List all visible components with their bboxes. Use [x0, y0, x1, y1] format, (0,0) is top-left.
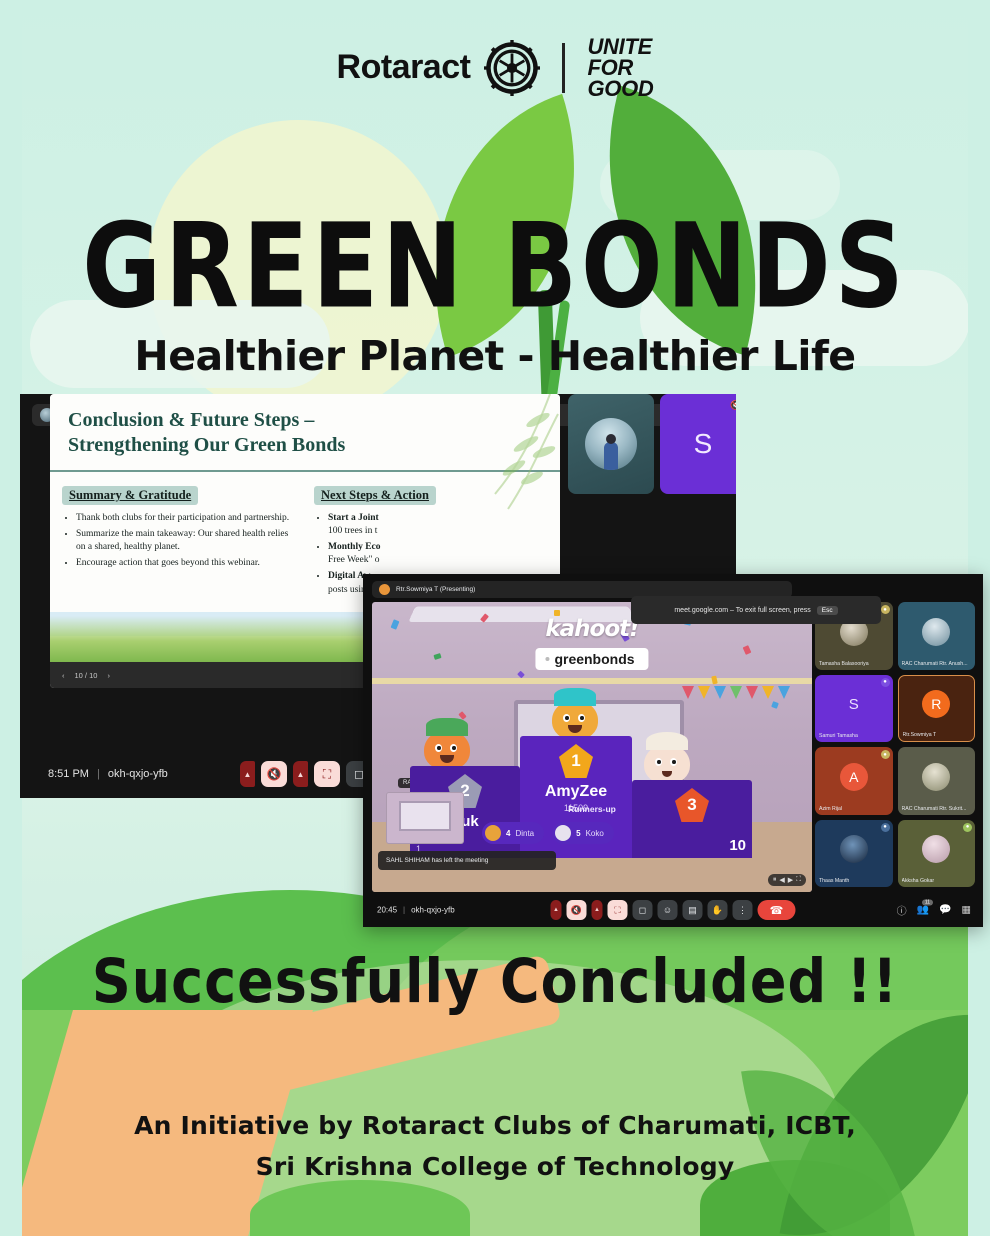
participant-tile[interactable]: RAC Charumati Rtr. Anush... [898, 602, 976, 670]
tagline-line-2: FOR [587, 57, 653, 78]
participant-tile[interactable]: ● Akksha Gokar [898, 820, 976, 888]
avatar-character [644, 732, 690, 784]
meeting-meta: 20:45 | okh-qxjo-yfb [377, 906, 455, 915]
leave-notification-text: SAHL SHIHAM has left the meeting [386, 857, 488, 864]
mic-status-icon: ● [881, 678, 890, 687]
slide-title-line-2: Strengthening Our Green Bonds [68, 433, 500, 458]
kahoot-nickname-pill: greenbonds [535, 648, 648, 670]
mic-status-icon: ● [963, 823, 972, 832]
list-item: Encourage action that goes beyond this w… [76, 557, 298, 570]
avatar [922, 835, 950, 863]
participant-tile[interactable]: RAC Charumati Rtr. Sukrit... [898, 747, 976, 815]
nickname-dot-icon [545, 657, 549, 661]
present-screen-button[interactable]: ◻ [633, 900, 653, 920]
participant-name: Samuri Tamasha [819, 733, 858, 739]
picture-in-picture-tile[interactable] [386, 792, 464, 844]
runners-up-row: Runners-up 4 Dinta 5 Koko [482, 818, 702, 848]
logo-divider [562, 43, 565, 93]
page-title: GREEN BONDS [0, 198, 990, 335]
participant-name: Azim Rijal [819, 806, 842, 812]
meeting-code: okh-qxjo-yfb [108, 768, 168, 780]
runner-name: Dinta [515, 829, 534, 838]
participant-tile[interactable]: S ● Samuri Tamasha [815, 675, 893, 743]
esc-key-badge: Esc [817, 606, 838, 615]
meet-bottom-bar: 20:45 | okh-qxjo-yfb ▲ 🔇 ▲ ⛶ ◻ ☺ ▤ ✋ ⋮ ☎… [363, 893, 983, 927]
list-item: Summarize the main takeaway: Our shared … [76, 528, 298, 554]
presenter-label: Rtr.Sowmiya T (Presenting) [396, 586, 475, 593]
avatar-character [424, 718, 470, 770]
participant-tile[interactable]: S 🔇 [660, 394, 736, 494]
mic-status-icon: ● [881, 823, 890, 832]
people-count-badge: 11 [922, 900, 933, 906]
slide-column-left: Summary & Gratitude Thank both clubs for… [62, 486, 298, 600]
fullscreen-icon[interactable]: ⛶ [796, 876, 801, 884]
slide-page-indicator: 10 / 10 [75, 671, 98, 680]
participant-tile[interactable] [568, 394, 654, 494]
list-item: Thank both clubs for their participation… [76, 512, 298, 525]
rotary-wheel-icon [484, 40, 540, 96]
google-meet-window-kahoot[interactable]: Rtr.Sowmiya T (Presenting) meet.google.c… [363, 574, 983, 927]
runner-avatar [485, 825, 501, 841]
next-icon[interactable]: ▶ [788, 876, 793, 884]
kahoot-results-stage: kahoot! greenbonds [372, 602, 812, 892]
avatar [840, 835, 868, 863]
prev-slide-icon[interactable]: ‹ [62, 671, 65, 680]
runner-avatar [555, 825, 571, 841]
footer-credits: An Initiative by Rotaract Clubs of Charu… [0, 1105, 990, 1188]
mic-options-caret-icon[interactable]: ▲ [551, 900, 562, 920]
bullet-rest: 100 trees in t [328, 526, 377, 536]
slide-title-line-1: Conclusion & Future Steps – [68, 408, 500, 433]
avatar-character [552, 688, 598, 740]
camera-options-caret-icon[interactable]: ▲ [592, 900, 603, 920]
pip-screen-content [399, 801, 451, 831]
slide-title: Conclusion & Future Steps – Strengthenin… [68, 408, 500, 458]
participant-name: RAC Charumati Rtr. Anush... [902, 661, 968, 667]
concluded-headline: Successfully Concluded !! [0, 946, 990, 1017]
bullet-rest: Free Week" o [328, 555, 379, 565]
fullscreen-toast: meet.google.com – To exit full screen, p… [631, 596, 881, 624]
avatar-head [606, 434, 616, 444]
participant-name: Thaas Manth [819, 878, 849, 884]
slide-left-bullets: Thank both clubs for their participation… [62, 512, 298, 570]
participant-name: Tamasha Balasooriya [819, 661, 869, 667]
avatar-initial: R [922, 690, 950, 718]
runners-up-label: Runners-up [482, 804, 702, 814]
meeting-details-icon[interactable]: ⓘ [897, 903, 907, 918]
chat-panel-icon[interactable]: 💬 [939, 905, 951, 916]
runner-up-chip: 5 Koko [552, 822, 614, 844]
runner-up-chip: 4 Dinta [482, 822, 544, 844]
list-item: Start a Joint100 trees in t [328, 512, 550, 538]
mic-off-icon: 🔇 [730, 400, 736, 410]
mic-off-button[interactable]: 🔇 [567, 900, 587, 920]
next-slide-icon[interactable]: › [107, 671, 110, 680]
meeting-time: 8:51 PM [48, 768, 89, 780]
meta-separator: | [403, 906, 405, 915]
runner-name: Koko [586, 829, 604, 838]
captions-button[interactable]: ▤ [683, 900, 703, 920]
confetti [743, 645, 752, 655]
meeting-meta: 8:51 PM | okh-qxjo-yfb [48, 768, 168, 780]
presenter-avatar [379, 584, 390, 595]
podium-name-1: AmyZee [545, 783, 607, 801]
avatar [585, 418, 637, 470]
mic-off-button[interactable]: 🔇 [261, 761, 287, 787]
mic-options-caret-icon[interactable]: ▲ [240, 761, 255, 787]
podium-score-3: 10 [729, 837, 746, 854]
stage-navigation[interactable]: ⏸ ◀ ▶ ⛶ [768, 874, 806, 886]
meeting-time: 20:45 [377, 906, 397, 915]
participant-name: Akksha Gokar [902, 878, 935, 884]
leave-notification-toast: SAHL SHIHAM has left the meeting [378, 851, 556, 870]
camera-options-caret-icon[interactable]: ▲ [293, 761, 308, 787]
avatar [922, 618, 950, 646]
avatar-initial: S [840, 690, 868, 718]
rotaract-logo: Rotaract [0, 36, 990, 99]
fullscreen-toast-text: meet.google.com – To exit full screen, p… [674, 607, 810, 614]
avatar [922, 763, 950, 791]
raise-hand-button[interactable]: ✋ [708, 900, 728, 920]
confetti [711, 676, 718, 685]
footer-line-1: An Initiative by Rotaract Clubs of Charu… [0, 1105, 990, 1146]
poster-border-left [0, 0, 22, 1236]
mic-status-icon: ● [881, 750, 890, 759]
pause-icon[interactable]: ⏸ [773, 876, 777, 884]
meet-controls[interactable]: ▲ 🔇 ▲ ⛶ ◻ ☺ ▤ ✋ ⋮ ☎ [551, 900, 796, 920]
kahoot-nickname: greenbonds [554, 651, 634, 667]
activities-panel-icon[interactable]: ▦ [962, 905, 971, 916]
participant-grid: ● Tamasha Balasooriya RAC Charumati Rtr.… [815, 602, 975, 892]
slide-right-heading: Next Steps & Action [314, 486, 436, 505]
participant-tile[interactable]: A ● Azim Rijal [815, 747, 893, 815]
page-subtitle: Healthier Planet - Healthier Life [0, 332, 990, 380]
bullet-bold: Monthly Eco [328, 542, 381, 552]
prev-icon[interactable]: ◀ [779, 876, 784, 884]
avatar-body [604, 442, 618, 470]
unite-for-good-tagline: UNITE FOR GOOD [587, 36, 653, 99]
tagline-line-1: UNITE [587, 36, 653, 57]
rank-badge-1: 1 [559, 744, 593, 778]
slide-left-heading: Summary & Gratitude [62, 486, 198, 505]
people-panel-icon[interactable]: 👥 11 [917, 905, 929, 916]
meet-controls[interactable]: ▲ 🔇 ▲ ⛶ ◻ [240, 761, 372, 787]
meeting-code: okh-qxjo-yfb [411, 906, 455, 915]
wall-trim [372, 678, 812, 684]
participant-name: Rtr.Sowmiya T [903, 732, 937, 738]
list-item: Monthly EcoFree Week" o [328, 541, 550, 567]
meet-right-controls[interactable]: ⓘ 👥 11 💬 ▦ [897, 903, 971, 918]
participant-tile-active[interactable]: R Rtr.Sowmiya T [898, 675, 976, 743]
footer-line-2: Sri Krishna College of Technology [0, 1146, 990, 1187]
rotaract-wordmark: Rotaract [337, 48, 471, 87]
participant-name: RAC Charumati Rtr. Sukrit... [902, 806, 967, 812]
meta-separator: | [97, 768, 100, 780]
bunting-decoration [682, 686, 802, 702]
avatar-initial: S [694, 428, 713, 460]
leave-call-button[interactable]: ☎ [758, 900, 796, 920]
participant-tile[interactable]: ● Thaas Manth [815, 820, 893, 888]
avatar-initial: A [840, 763, 868, 791]
more-options-button[interactable]: ⋮ [733, 900, 753, 920]
confetti [433, 653, 441, 660]
runner-rank: 4 [506, 829, 510, 838]
runner-rank: 5 [576, 829, 580, 838]
emoji-reaction-button[interactable]: ☺ [658, 900, 678, 920]
mic-status-icon: ● [881, 605, 890, 614]
camera-off-button[interactable]: ⛶ [314, 761, 340, 787]
tagline-line-3: GOOD [587, 78, 653, 99]
bullet-bold: Start a Joint [328, 513, 379, 523]
camera-off-button[interactable]: ⛶ [608, 900, 628, 920]
